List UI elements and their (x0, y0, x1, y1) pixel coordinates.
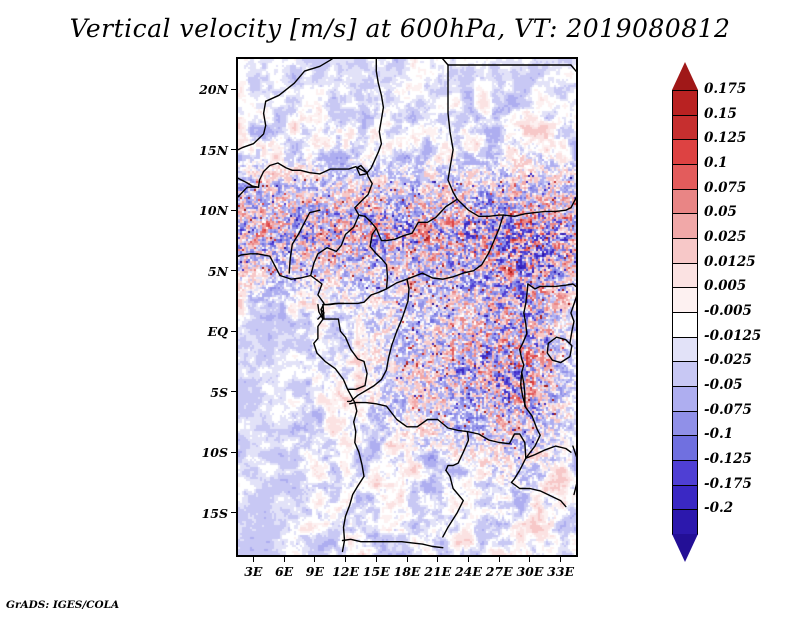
border-line (238, 101, 266, 162)
colorbar-band (672, 386, 698, 412)
x-tick-mark (407, 557, 408, 562)
x-axis-tick-label: 12E (332, 564, 360, 579)
y-axis-tick-label: 10N (184, 203, 228, 218)
colorbar-tick-label: 0.175 (704, 83, 746, 97)
colorbar-max-arrow (672, 62, 698, 90)
x-axis-tick-label: 21E (424, 564, 452, 579)
colorbar-band (672, 189, 698, 215)
border-line (545, 284, 576, 289)
x-tick-mark (468, 557, 469, 562)
border-line (443, 470, 464, 537)
border-line (457, 199, 503, 216)
y-tick-mark (231, 391, 236, 392)
colorbar-tick-label: -0.005 (704, 305, 752, 319)
colorbar-tick-label: -0.2 (704, 502, 733, 516)
x-axis-tick-label: 18E (393, 564, 421, 579)
x-axis-tick-label: 15E (362, 564, 390, 579)
border-line (467, 432, 525, 483)
x-tick-mark (314, 557, 315, 562)
colorbar-tick-label: 0.15 (704, 108, 737, 122)
border-line (350, 403, 469, 471)
colorbar-band (672, 139, 698, 165)
colorbar-tick-label: -0.075 (704, 404, 752, 418)
x-axis-tick-label: 6E (270, 564, 298, 579)
y-tick-mark (231, 89, 236, 90)
y-axis-tick-label: 15N (184, 143, 228, 158)
border-line (289, 210, 320, 273)
border-line (343, 539, 443, 547)
country-borders-overlay (238, 59, 576, 555)
colorbar-band (672, 213, 698, 239)
x-tick-mark (437, 557, 438, 562)
colorbar-band (672, 411, 698, 437)
y-axis-tick-label: 20N (184, 82, 228, 97)
x-tick-mark (499, 557, 500, 562)
x-tick-mark (529, 557, 530, 562)
colorbar-band (672, 115, 698, 141)
colorbar-tick-label: -0.1 (704, 428, 733, 442)
y-axis-tick-label: EQ (184, 324, 228, 339)
colorbar-band (672, 263, 698, 289)
colorbar-tick-label: 0.0125 (704, 256, 756, 270)
border-line (348, 279, 409, 401)
border-line (259, 163, 368, 187)
border-line (573, 446, 576, 494)
page-title: Vertical velocity [m/s] at 600hPa, VT: 2… (0, 14, 800, 43)
x-axis-tick-label: 33E (547, 564, 575, 579)
x-tick-mark (253, 557, 254, 562)
y-axis-tick-label: 5N (184, 264, 228, 279)
colorbar-tick-label: -0.125 (704, 453, 752, 467)
border-line (503, 208, 571, 217)
credit-text: GrADS: IGES/COLA (6, 599, 119, 611)
colorbar-band (672, 485, 698, 511)
colorbar-band (672, 435, 698, 461)
colorbar: 0.1750.150.1250.10.0750.050.0250.01250.0… (672, 62, 800, 562)
border-line (311, 276, 364, 552)
x-tick-mark (345, 557, 346, 562)
border-line (359, 199, 457, 240)
colorbar-band (672, 337, 698, 363)
x-axis-tick-label: 30E (516, 564, 544, 579)
y-tick-mark (231, 270, 236, 271)
border-line (238, 187, 259, 198)
x-axis-tick-label: 24E (454, 564, 482, 579)
y-tick-mark (231, 512, 236, 513)
border-line (370, 228, 387, 292)
colorbar-band (672, 509, 698, 535)
x-tick-mark (376, 557, 377, 562)
colorbar-tick-label: 0.1 (704, 157, 728, 171)
x-axis-tick-label: 3E (239, 564, 267, 579)
colorbar-tick-label: 0.025 (704, 231, 746, 245)
x-axis-tick-label: 9E (301, 564, 329, 579)
border-line (526, 446, 571, 458)
colorbar-tick-label: 0.005 (704, 280, 746, 294)
border-line (528, 284, 545, 289)
y-tick-mark (231, 331, 236, 332)
border-line (238, 254, 311, 279)
colorbar-tick-label: 0.05 (704, 206, 737, 220)
colorbar-min-arrow (672, 534, 698, 562)
border-line (512, 482, 566, 506)
colorbar-band (672, 90, 698, 116)
border-line (520, 284, 541, 458)
border-line (570, 289, 576, 343)
border-line (547, 337, 572, 362)
colorbar-tick-label: -0.025 (704, 354, 752, 368)
colorbar-band (672, 460, 698, 486)
colorbar-band (672, 312, 698, 338)
border-line (238, 162, 259, 187)
border-line (448, 65, 457, 199)
y-tick-mark (231, 149, 236, 150)
y-axis-tick-label: 15S (184, 506, 228, 521)
colorbar-band (672, 164, 698, 190)
colorbar-tick-label: 0.075 (704, 182, 746, 196)
border-line (367, 59, 383, 173)
border-line (340, 59, 448, 65)
border-line (323, 215, 503, 305)
x-axis-tick-label: 27E (485, 564, 513, 579)
border-line (571, 65, 576, 113)
x-tick-mark (560, 557, 561, 562)
border-line (311, 173, 373, 276)
colorbar-tick-label: 0.125 (704, 132, 746, 146)
y-tick-mark (231, 210, 236, 211)
border-line (323, 303, 344, 304)
y-axis-tick-label: 10S (184, 445, 228, 460)
border-line (323, 305, 367, 390)
colorbar-band (672, 238, 698, 264)
x-tick-mark (284, 557, 285, 562)
y-axis-tick-label: 5S (184, 385, 228, 400)
map-plot-panel (236, 57, 578, 557)
colorbar-tick-label: -0.175 (704, 478, 752, 492)
colorbar-tick-label: -0.05 (704, 379, 742, 393)
border-line (571, 138, 576, 208)
y-tick-mark (231, 452, 236, 453)
colorbar-tick-label: -0.0125 (704, 330, 761, 344)
colorbar-band (672, 361, 698, 387)
border-line (266, 59, 341, 101)
colorbar-band (672, 287, 698, 313)
